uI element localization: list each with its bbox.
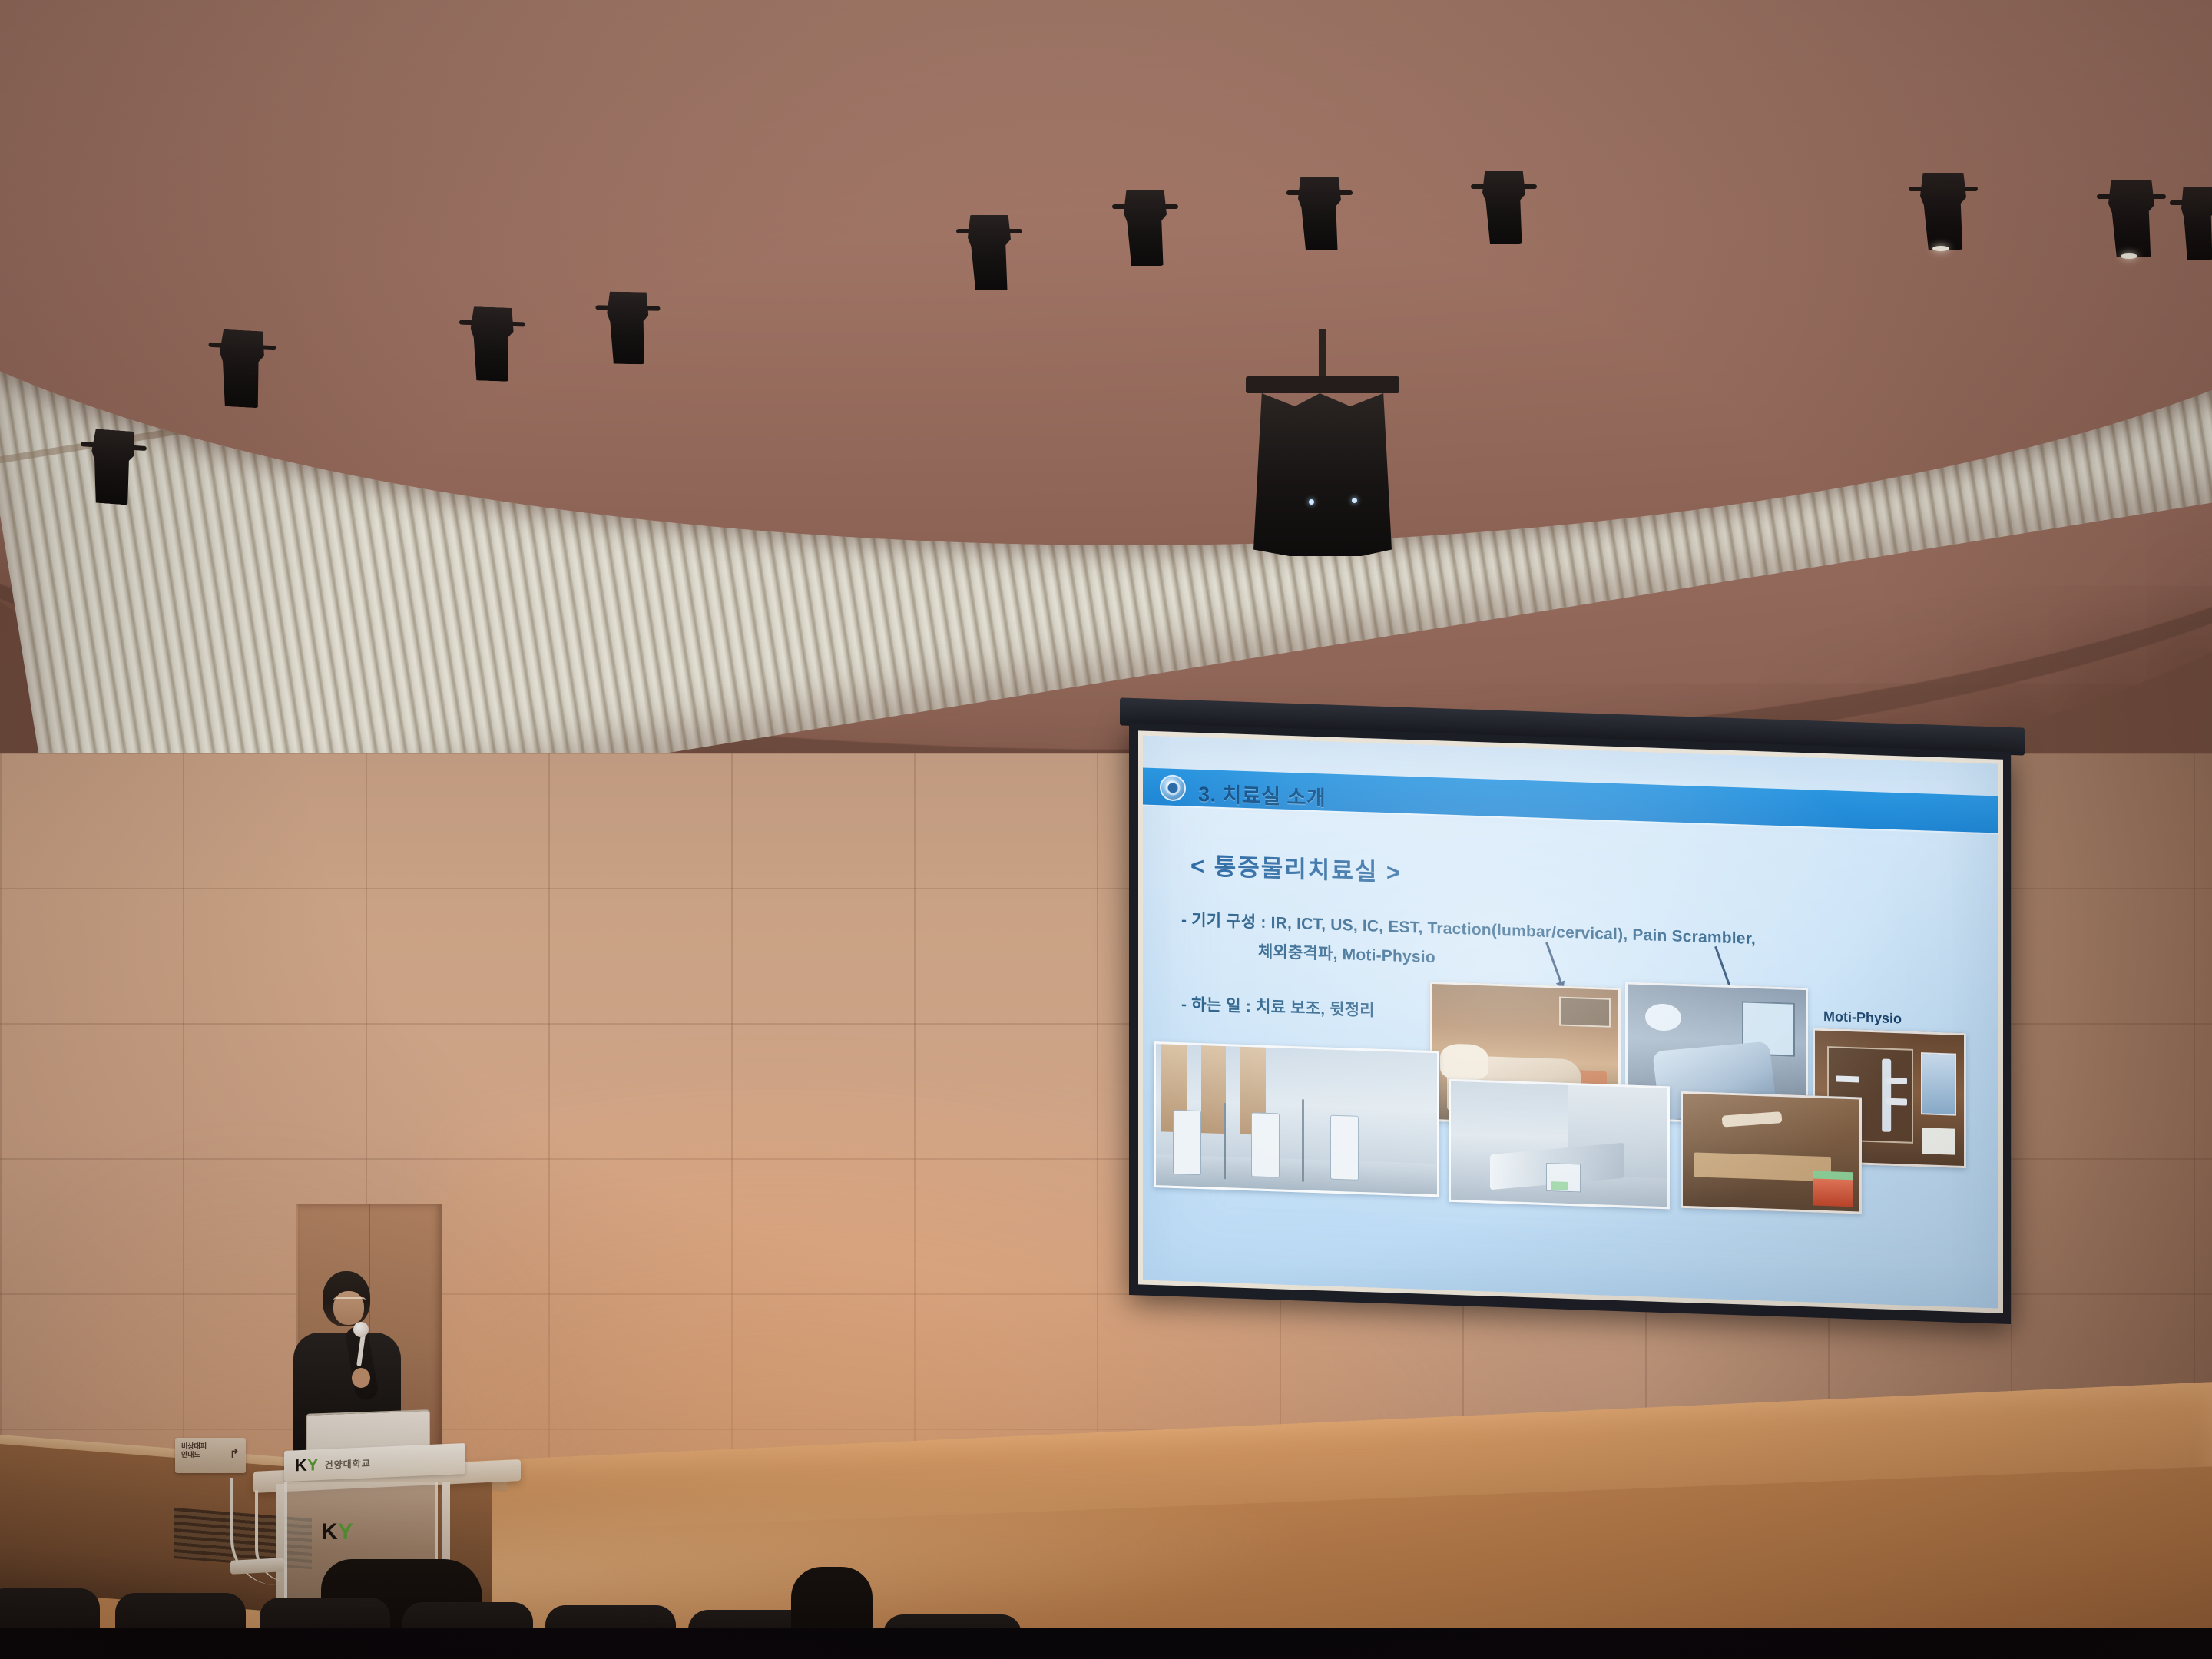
podium-logo-k: K xyxy=(321,1519,338,1545)
photo-caption-moti-physio: Moti-Physio xyxy=(1823,1008,1902,1027)
podium-logo-y: Y xyxy=(338,1519,353,1545)
line-array-speaker-right xyxy=(1238,329,1407,567)
slide-header-title: 3. 치료실 소개 xyxy=(1198,777,1326,812)
stage-spotlight xyxy=(1482,171,1525,244)
microphone-icon xyxy=(353,1322,369,1337)
emergency-exit-plaque: 비상대피 안내도 ↱ xyxy=(175,1438,246,1473)
stage-spotlight xyxy=(1920,173,1966,250)
stage-spotlight xyxy=(1124,190,1167,266)
ky-logo-icon: KY xyxy=(295,1456,319,1474)
ceiling-curve-mask xyxy=(0,0,2212,545)
photo-treatment-hall xyxy=(1449,1079,1670,1210)
presentation-slide: 3. 치료실 소개 < 통증물리치료실 > - 기기 구성 : IR, ICT,… xyxy=(1143,736,1998,1309)
stage-spotlight xyxy=(217,329,265,409)
screen-border: 3. 치료실 소개 < 통증물리치료실 > - 기기 구성 : IR, ICT,… xyxy=(1138,730,2003,1313)
stage-spotlight xyxy=(606,292,649,365)
glasses-icon xyxy=(333,1297,366,1306)
stage-spotlight xyxy=(968,215,1011,290)
hospital-emblem-icon xyxy=(1160,774,1186,801)
slide-section-title: < 통증물리치료실 > xyxy=(1190,846,1402,888)
slide-bullet-duties: - 하는 일 : 치료 보조, 뒷정리 xyxy=(1181,992,1375,1021)
ky-logo-y: Y xyxy=(307,1456,319,1474)
auditorium-floor-shadow xyxy=(0,1628,2212,1659)
slide-bullet-equipment-cont: 체외충격파, Moti-Physio xyxy=(1258,939,1435,969)
stage-spotlight xyxy=(469,306,514,382)
stage-spotlight xyxy=(2181,187,2212,260)
photo-equipment-table xyxy=(1681,1091,1862,1214)
auditorium-photo: 3. 치료실 소개 < 통증물리치료실 > - 기기 구성 : IR, ICT,… xyxy=(0,0,2212,1659)
presenter-hand xyxy=(352,1368,370,1388)
callout-arrow-left xyxy=(1545,942,1562,984)
stage-spotlight xyxy=(1298,177,1341,250)
presenter-face xyxy=(333,1291,364,1325)
podium-front-logo: KY xyxy=(321,1521,353,1544)
photo-therapy-ward xyxy=(1154,1041,1439,1197)
projection-screen: 3. 치료실 소개 < 통증물리치료실 > - 기기 구성 : IR, ICT,… xyxy=(1129,723,2011,1324)
podium-university-name: 건양대학교 xyxy=(325,1456,371,1472)
stage-spotlight xyxy=(2108,180,2154,257)
ky-logo-k: K xyxy=(295,1457,307,1475)
plaque-arrow-icon: ↱ xyxy=(230,1447,240,1462)
callout-arrow-right xyxy=(1714,946,1732,989)
stage-spotlight xyxy=(88,429,137,505)
